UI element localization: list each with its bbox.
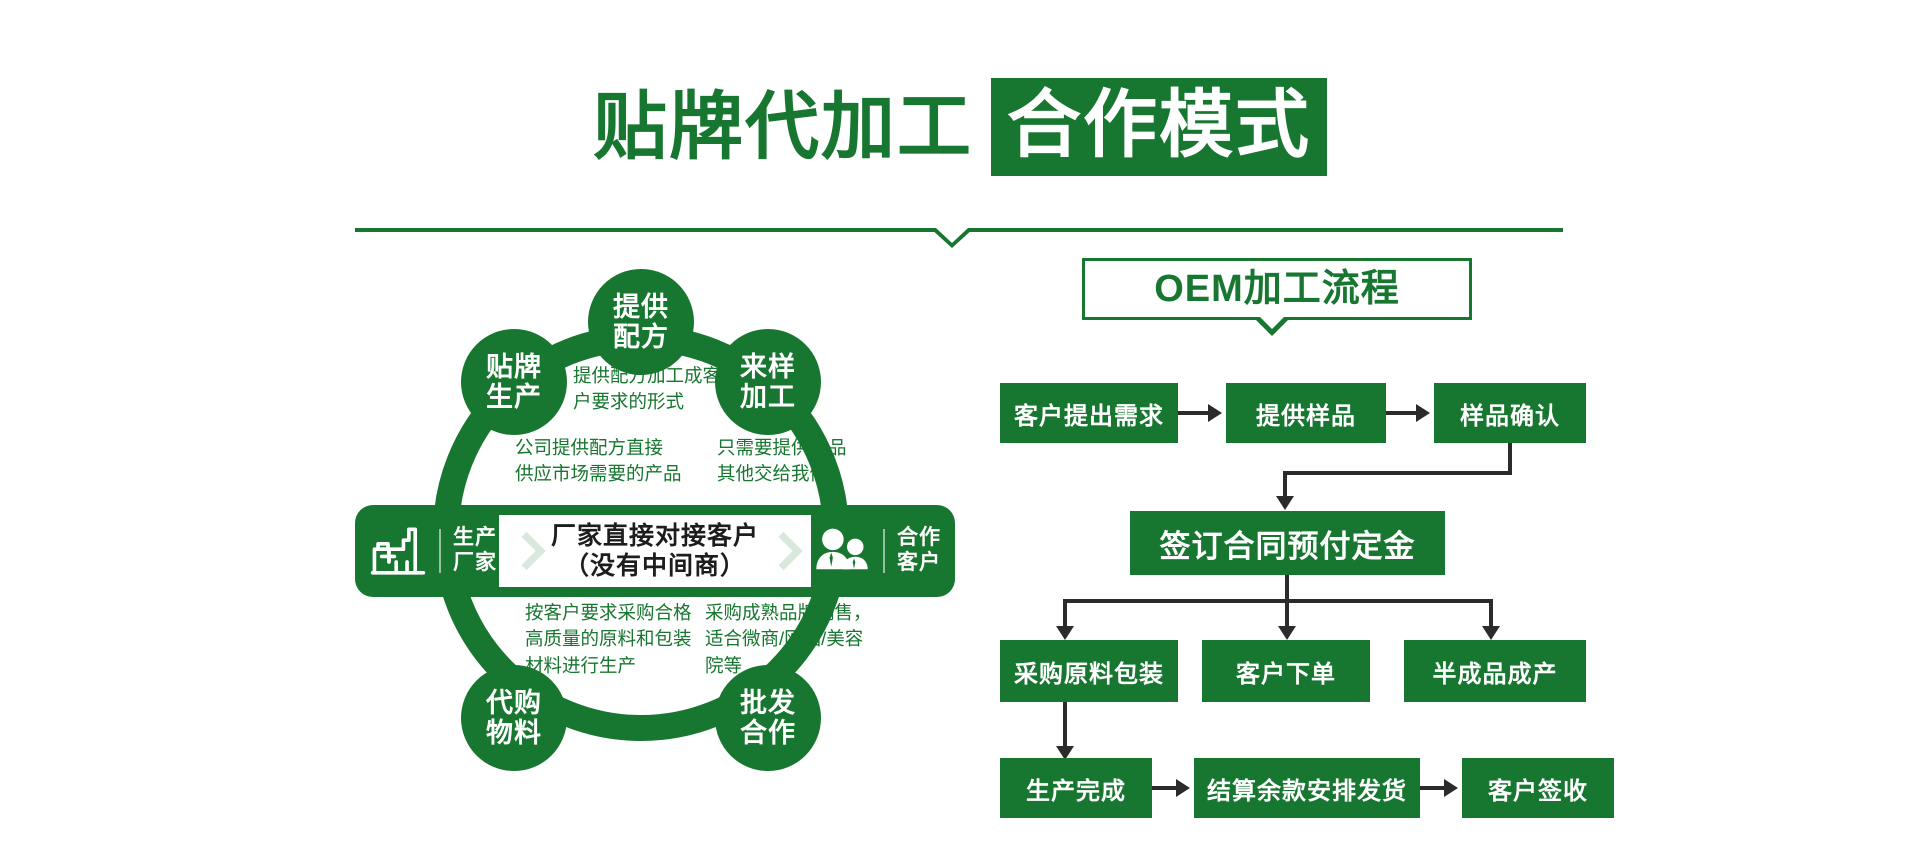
flow-step-customer-receipt[interactable]: 客户签收 xyxy=(1462,758,1614,818)
title-boxed-text: 合作模式 xyxy=(991,78,1327,176)
flow-connector-1 xyxy=(1178,411,1210,415)
page-title: 贴牌代加工 合作模式 xyxy=(0,78,1920,176)
cycle-desc-bottom-left: 按客户要求采购合格 高质量的原料和包装 材料进行生产 xyxy=(525,600,692,679)
flow-connector-7 xyxy=(1420,786,1446,790)
arrow-down-icon-3 xyxy=(1278,626,1296,640)
flow-step-sample-confirm[interactable]: 样品确认 xyxy=(1434,383,1586,443)
cycle-node-line1: 贴牌 xyxy=(486,352,542,382)
cycle-node-provide-formula[interactable]: 提供 配方 xyxy=(588,269,694,375)
flow-step-sign-contract[interactable]: 签订合同预付定金 xyxy=(1130,511,1445,575)
cycle-node-line1: 来样 xyxy=(740,352,796,382)
flow-connector-4e xyxy=(1489,599,1493,629)
poster-canvas: 贴牌代加工 合作模式 提供配方加工成客 户要求的形式 公司提供配方直接 供应市场… xyxy=(0,0,1920,857)
direct-connection-bar: 生产 厂家 厂家直接对接客户 （没有中间商） xyxy=(355,505,955,597)
cycle-node-line2: 合作 xyxy=(740,718,796,748)
cycle-node-line2: 配方 xyxy=(613,322,669,352)
cycle-desc-bottom-right: 采购成熟品牌销售， 适合微商/网站/美容 院等 xyxy=(705,600,872,679)
flow-connector-4d xyxy=(1285,599,1289,629)
oem-flowchart: OEM加工流程 客户提出需求 提供样品 样品确认 签订合同预付定金 采购原料包装… xyxy=(1000,258,1560,818)
cycle-node-purchasing-materials[interactable]: 代购 物料 xyxy=(461,665,567,771)
cycle-node-line1: 批发 xyxy=(740,688,796,718)
flow-connector-5a xyxy=(1063,702,1067,750)
flow-step-settle-and-ship[interactable]: 结算余款安排发货 xyxy=(1194,758,1420,818)
cycle-node-sample-processing[interactable]: 来样 加工 xyxy=(715,329,821,435)
flow-connector-4c xyxy=(1063,599,1067,629)
chevron-right-icon-right xyxy=(764,532,802,570)
arrow-down-icon-1 xyxy=(1276,496,1294,510)
cycle-desc-right: 只需要提供样品 其他交给我们 xyxy=(717,435,847,488)
arrow-down-icon-2 xyxy=(1056,626,1074,640)
bar-divider-right xyxy=(883,529,885,573)
oem-flow-heading-text: OEM加工流程 xyxy=(1154,270,1400,308)
direct-connection-text: 厂家直接对接客户 （没有中间商） xyxy=(551,521,759,581)
cycle-node-line2: 生产 xyxy=(486,382,542,412)
cycle-node-wholesale-cooperation[interactable]: 批发 合作 xyxy=(715,665,821,771)
flow-connector-4b xyxy=(1063,599,1493,603)
cycle-node-line2: 加工 xyxy=(740,382,796,412)
cooperation-cycle-diagram: 提供配方加工成客 户要求的形式 公司提供配方直接 供应市场需要的产品 只需要提供… xyxy=(355,255,955,815)
customer-group: 合作 客户 xyxy=(813,525,955,577)
customer-label: 合作 客户 xyxy=(897,526,941,576)
flow-step-provide-sample[interactable]: 提供样品 xyxy=(1226,383,1386,443)
oem-flow-heading: OEM加工流程 xyxy=(1082,258,1472,320)
factory-icon xyxy=(369,522,427,580)
flow-step-semifinished-production[interactable]: 半成品成产 xyxy=(1404,640,1586,702)
flow-connector-3b xyxy=(1283,471,1512,475)
flow-connector-2 xyxy=(1386,411,1418,415)
flow-step-production-complete[interactable]: 生产完成 xyxy=(1000,758,1152,818)
oem-heading-pointer-inner-icon xyxy=(1259,316,1285,329)
flow-step-purchase-materials[interactable]: 采购原料包装 xyxy=(1000,640,1178,702)
arrow-right-icon-3 xyxy=(1176,779,1190,797)
bar-divider-left xyxy=(439,529,441,573)
divider-chevron-inner-icon xyxy=(936,228,968,243)
cycle-node-line1: 提供 xyxy=(613,292,669,322)
title-plain-text: 贴牌代加工 xyxy=(593,90,973,164)
cycle-node-line1: 代购 xyxy=(486,688,542,718)
chevron-right-icon-left xyxy=(507,532,545,570)
flow-step-customer-request[interactable]: 客户提出需求 xyxy=(1000,383,1178,443)
manufacturer-label: 生产 厂家 xyxy=(453,526,497,576)
customers-icon xyxy=(813,525,871,577)
arrow-right-icon-2 xyxy=(1416,404,1430,422)
manufacturer-group: 生产 厂家 xyxy=(355,522,497,580)
arrow-right-icon-1 xyxy=(1208,404,1222,422)
flow-connector-6 xyxy=(1152,786,1178,790)
flow-step-customer-order[interactable]: 客户下单 xyxy=(1202,640,1370,702)
cycle-desc-left: 公司提供配方直接 供应市场需要的产品 xyxy=(515,435,682,488)
cycle-node-line2: 物料 xyxy=(486,718,542,748)
cycle-node-oem-production[interactable]: 贴牌 生产 xyxy=(461,329,567,435)
direct-connection-panel: 厂家直接对接客户 （没有中间商） xyxy=(499,515,811,587)
arrow-down-icon-4 xyxy=(1482,626,1500,640)
arrow-right-icon-4 xyxy=(1444,779,1458,797)
flow-connector-3c xyxy=(1283,471,1287,499)
